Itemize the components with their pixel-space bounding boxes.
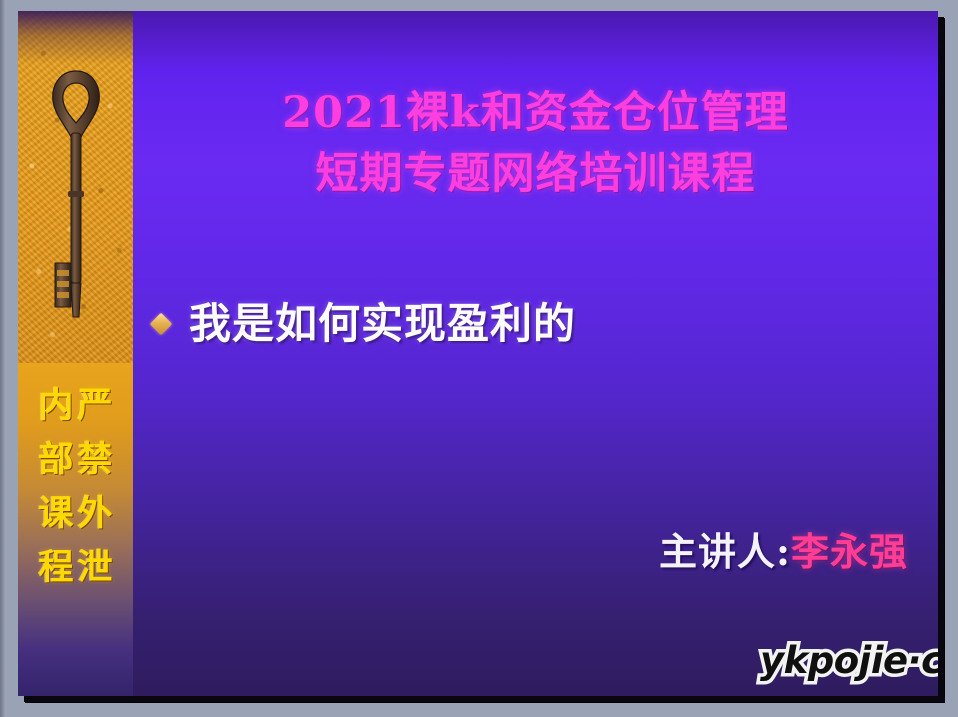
notice-char-5: 内 [38, 389, 73, 424]
confidential-notice-text: 严 禁 外 泄 内 部 课 程 [18, 389, 133, 689]
notice-char-8: 程 [38, 551, 73, 586]
presenter-name: 李永强 [791, 529, 908, 574]
notice-char-3: 外 [78, 497, 113, 532]
title-line-1: 2021裸k和资金仓位管理 [133, 83, 938, 144]
notice-char-6: 部 [38, 443, 73, 478]
site-watermark: ykpojie·com [760, 639, 938, 682]
key-icon [47, 67, 105, 329]
presenter-line: 主讲人:李永强 [518, 533, 908, 571]
slide-canvas: 严 禁 外 泄 内 部 课 程 2021裸k和资金仓位管理 短期专题网络培训 [18, 11, 938, 696]
notice-char-2: 禁 [78, 443, 113, 478]
slide-title: 2021裸k和资金仓位管理 短期专题网络培训课程 [133, 83, 938, 205]
presentation-window-frame: 严 禁 外 泄 内 部 课 程 2021裸k和资金仓位管理 短期专题网络培训 [0, 0, 958, 717]
antique-key-photo [18, 11, 133, 363]
bullet-item-label: 我是如何实现盈利的 [189, 303, 576, 345]
notice-char-7: 课 [38, 497, 73, 532]
notice-char-1: 严 [78, 389, 113, 424]
notice-column-left: 内 部 课 程 [38, 389, 73, 689]
diamond-bullet-icon [150, 313, 173, 336]
confidential-notice-panel: 严 禁 外 泄 内 部 课 程 [18, 363, 133, 696]
notice-char-4: 泄 [78, 551, 113, 586]
presenter-label: 主讲人: [659, 529, 791, 574]
title-line-2: 短期专题网络培训课程 [133, 144, 938, 205]
bullet-list-item: 我是如何实现盈利的 [153, 303, 576, 345]
left-decoration-strip: 严 禁 外 泄 内 部 课 程 [18, 11, 133, 696]
notice-column-right: 严 禁 外 泄 [78, 389, 113, 689]
